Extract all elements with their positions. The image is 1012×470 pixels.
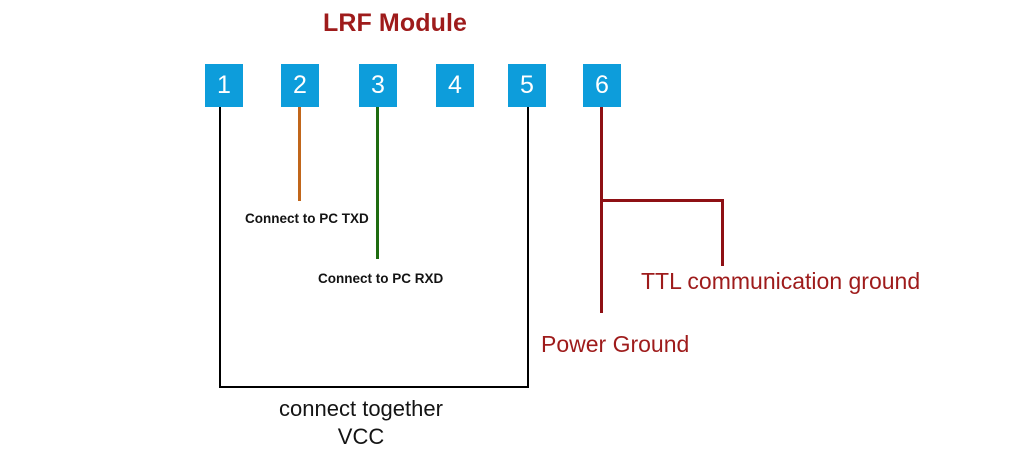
wire-pin3-vertical xyxy=(376,107,379,259)
label-vcc-group: connect together VCC xyxy=(178,395,544,451)
wire-pin1-vertical xyxy=(219,107,221,388)
pin-number-label: 3 xyxy=(371,73,385,98)
label-vcc: VCC xyxy=(178,423,544,451)
wire-vcc-bracket-horizontal xyxy=(219,386,529,388)
label-power-ground: Power Ground xyxy=(541,331,689,357)
wire-pin5-vertical xyxy=(527,107,529,388)
wire-pin2-vertical xyxy=(298,107,301,201)
pin-box-4[interactable]: 4 xyxy=(436,64,474,107)
label-ttl-communication-ground: TTL communication ground xyxy=(641,268,920,294)
pin-number-label: 5 xyxy=(520,73,534,98)
diagram-canvas: LRF Module 1 2 3 4 5 6 Connect to PC TXD… xyxy=(0,0,1012,470)
wire-ttl-ground-horizontal xyxy=(600,199,724,202)
pin-box-6[interactable]: 6 xyxy=(583,64,621,107)
wire-pin6-vertical xyxy=(600,107,603,313)
pin-box-3[interactable]: 3 xyxy=(359,64,397,107)
pin-number-label: 4 xyxy=(448,73,462,98)
label-connect-pc-txd: Connect to PC TXD xyxy=(245,211,369,227)
pin-box-2[interactable]: 2 xyxy=(281,64,319,107)
pin-box-5[interactable]: 5 xyxy=(508,64,546,107)
page-title: LRF Module xyxy=(0,9,790,38)
pin-number-label: 2 xyxy=(293,73,307,98)
wire-ttl-ground-vertical xyxy=(721,199,724,266)
pin-box-1[interactable]: 1 xyxy=(205,64,243,107)
pin-number-label: 6 xyxy=(595,73,609,98)
pin-number-label: 1 xyxy=(217,73,231,98)
label-connect-pc-rxd: Connect to PC RXD xyxy=(318,271,443,287)
label-connect-together: connect together xyxy=(178,395,544,423)
